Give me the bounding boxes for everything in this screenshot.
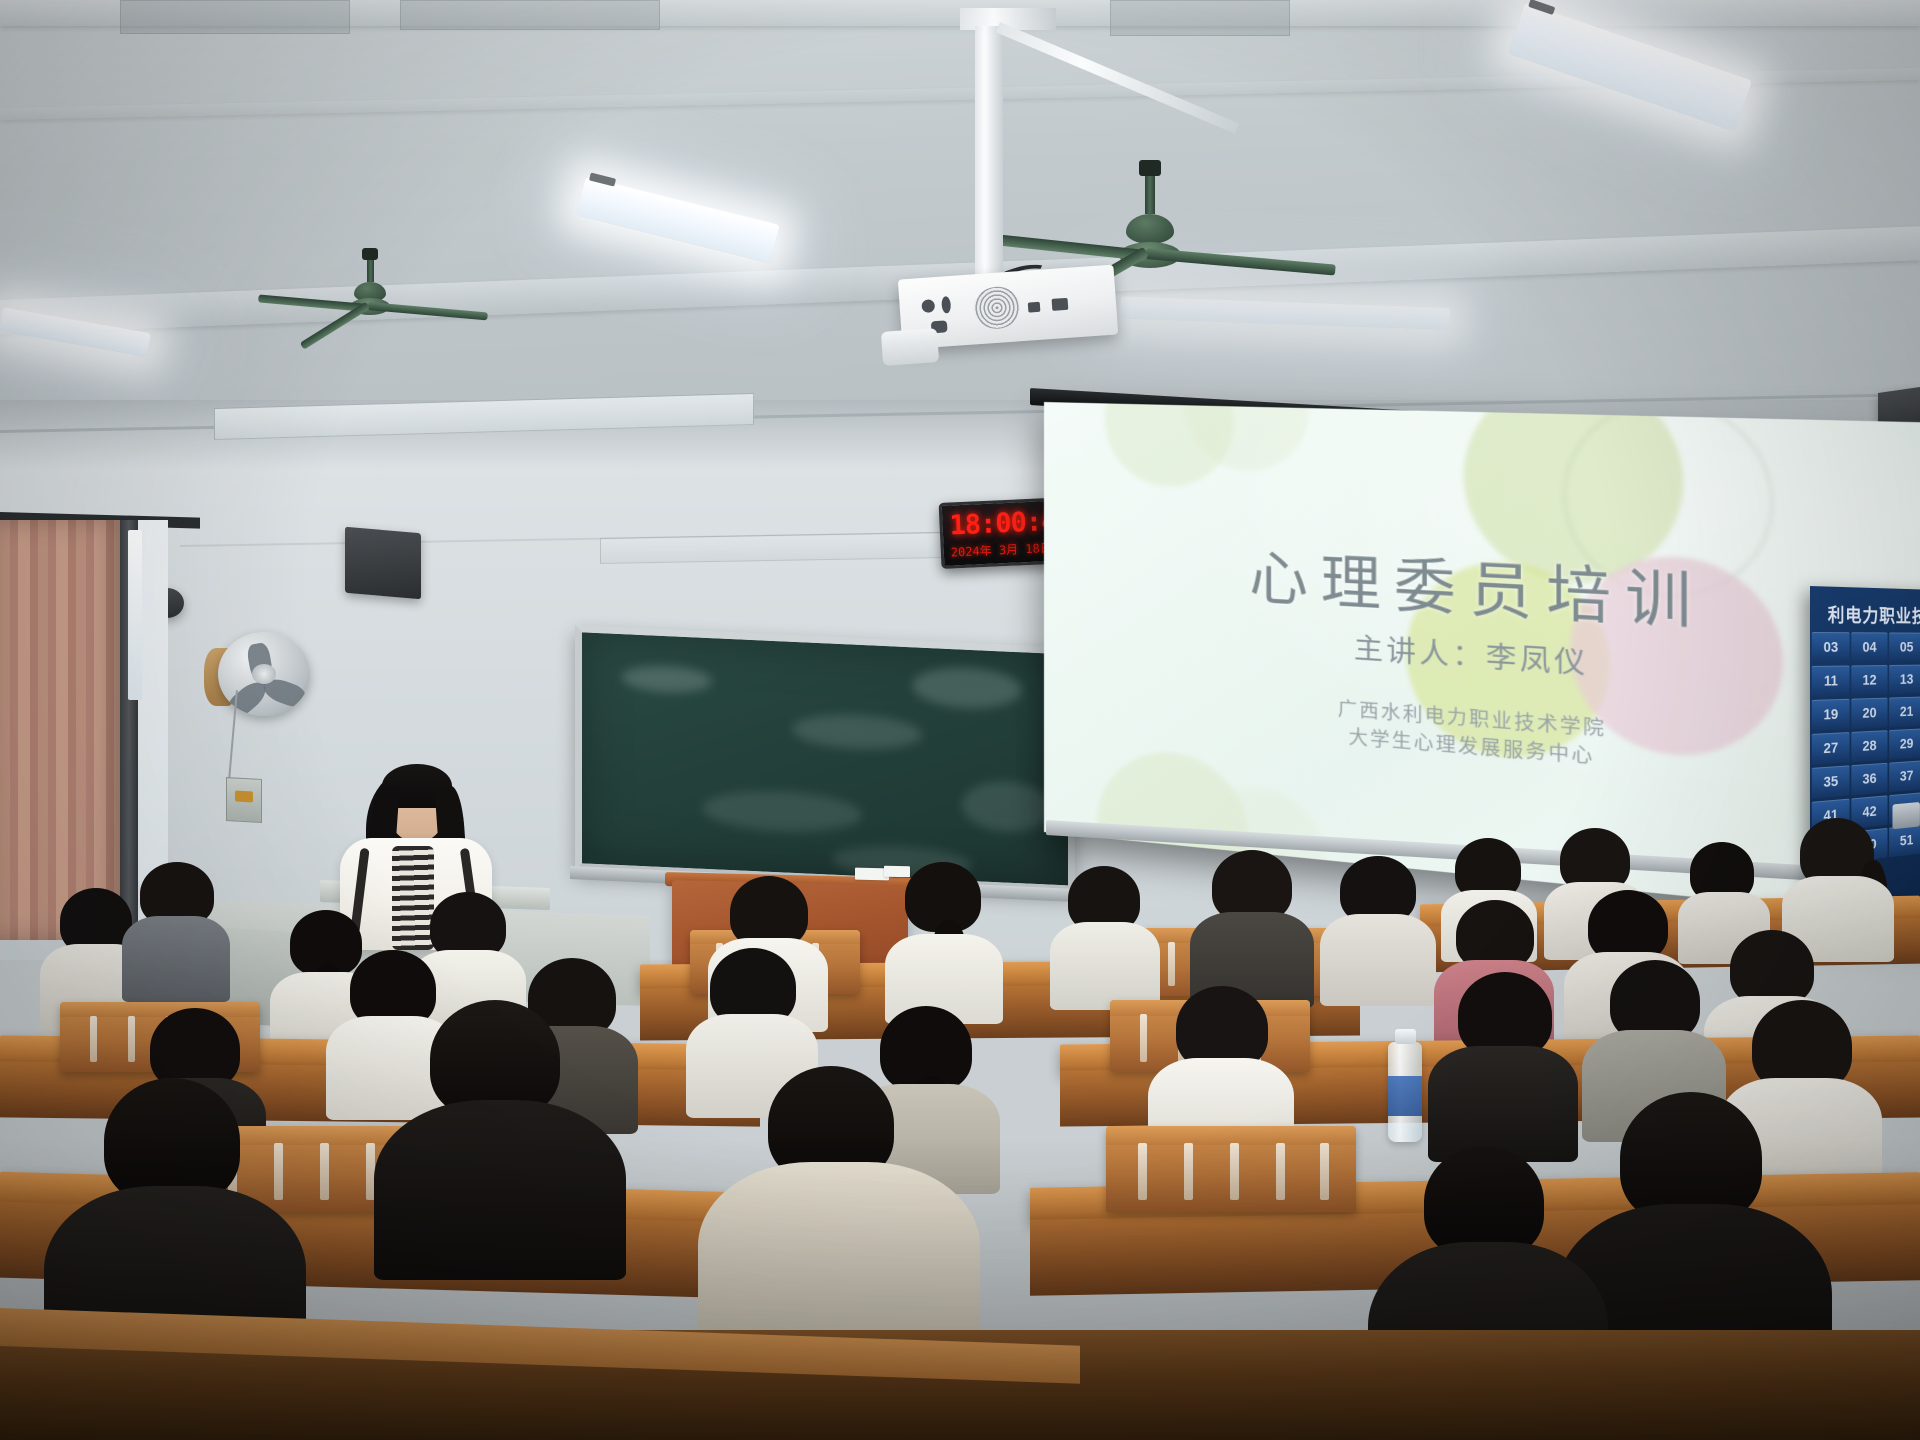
chair-slat bbox=[320, 1143, 329, 1200]
wall-fan-hub bbox=[252, 664, 276, 684]
ceiling-panel-right bbox=[1110, 0, 1290, 36]
pocket-cell[interactable]: 03 bbox=[1812, 632, 1850, 663]
chalk-smudge bbox=[622, 664, 712, 694]
student-torso bbox=[1320, 914, 1436, 1006]
bottle-cap bbox=[1395, 1029, 1416, 1044]
wall-speaker-left bbox=[345, 527, 421, 600]
window-curtain bbox=[0, 520, 126, 940]
fan-mount bbox=[362, 248, 378, 260]
ceiling-panel-left bbox=[120, 0, 350, 34]
chair-slat bbox=[1138, 1143, 1147, 1200]
fan-rod bbox=[367, 260, 374, 282]
switch-lever[interactable] bbox=[235, 791, 253, 803]
chair-back-r4b bbox=[1106, 1126, 1356, 1212]
chair-slat bbox=[1140, 1014, 1147, 1062]
projector-knob bbox=[941, 296, 951, 314]
pocket-cell[interactable]: 36 bbox=[1851, 763, 1887, 796]
chalk-smudge bbox=[792, 712, 922, 752]
pocket-cell[interactable]: 19 bbox=[1812, 699, 1850, 731]
chalk-smudge bbox=[962, 780, 1052, 834]
blackboard bbox=[575, 625, 1075, 893]
classroom-photo: 18:00:40 2024年 3月 18日 一 心理委员培训 主讲人：李凤仪 bbox=[0, 0, 1920, 1440]
student-hair bbox=[1730, 930, 1814, 1006]
chair-slat bbox=[90, 1016, 97, 1062]
chair-slat bbox=[1276, 1143, 1285, 1200]
pocket-cell[interactable]: 21 bbox=[1889, 697, 1920, 728]
pocket-cell[interactable]: 05 bbox=[1889, 632, 1920, 662]
projector-port bbox=[1052, 298, 1069, 311]
pocket-cell[interactable]: 35 bbox=[1812, 765, 1850, 799]
pocket-cell[interactable]: 11 bbox=[1812, 666, 1850, 697]
pocket-cell[interactable]: 13 bbox=[1889, 665, 1920, 695]
water-bottle[interactable] bbox=[1388, 1042, 1422, 1142]
chair-slat bbox=[1230, 1143, 1239, 1200]
pocket-cell[interactable]: 37 bbox=[1889, 760, 1920, 792]
projector-port bbox=[1028, 302, 1041, 313]
chalk-smudge bbox=[912, 665, 1022, 710]
student-torso bbox=[1050, 922, 1160, 1010]
chair-rail bbox=[60, 1002, 260, 1017]
chair-slat bbox=[1168, 942, 1175, 987]
ceiling-panel-center bbox=[400, 0, 660, 30]
presenter-inner-shirt bbox=[392, 846, 434, 950]
stored-phone bbox=[1892, 802, 1919, 829]
pocket-cell[interactable]: 28 bbox=[1851, 730, 1887, 762]
pocket-cell[interactable]: 20 bbox=[1851, 698, 1887, 729]
window-light-reflection bbox=[128, 530, 142, 700]
pocket-cell[interactable]: 27 bbox=[1812, 732, 1850, 765]
student-jacket-black bbox=[374, 1100, 626, 1280]
chair-slat bbox=[1184, 1143, 1193, 1200]
bottle-label bbox=[1388, 1076, 1422, 1116]
fan-mount bbox=[1139, 160, 1161, 176]
student-torso bbox=[1428, 1046, 1578, 1162]
ceiling-fan-left bbox=[330, 258, 410, 348]
pocket-cell[interactable]: 29 bbox=[1889, 728, 1920, 759]
student-torso bbox=[122, 916, 230, 1002]
fan-motor bbox=[1126, 214, 1174, 244]
projector-lens-housing bbox=[881, 328, 939, 366]
chalk-smudge bbox=[702, 788, 862, 835]
chair-slat bbox=[128, 1016, 135, 1062]
projector-pole bbox=[975, 26, 1003, 276]
chair-slat bbox=[274, 1143, 283, 1200]
wall-switch-box[interactable] bbox=[226, 777, 262, 823]
pocket-cell[interactable]: 12 bbox=[1851, 665, 1887, 696]
chair-slat bbox=[1320, 1143, 1329, 1200]
projector-vent bbox=[973, 285, 1022, 330]
pocket-cell[interactable]: 04 bbox=[1851, 632, 1887, 662]
chair-rail bbox=[1106, 1126, 1356, 1145]
projector-knob bbox=[921, 299, 935, 313]
fan-rod bbox=[1145, 176, 1155, 214]
pocket-board-title: 利电力职业技术 bbox=[1810, 600, 1920, 628]
paper-on-lectern[interactable] bbox=[884, 866, 910, 878]
